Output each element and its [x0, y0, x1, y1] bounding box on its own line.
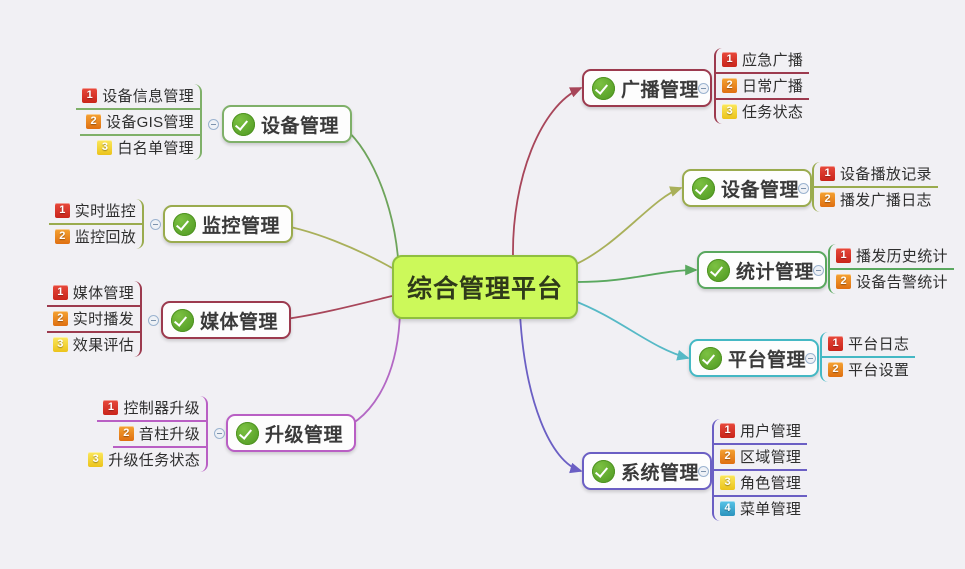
list-item[interactable]: 2 监控回放: [49, 225, 142, 249]
node-label: 监控管理: [202, 211, 280, 238]
collapse-minus-icon[interactable]: [148, 315, 159, 326]
subgroup-media-management: 1 媒体管理 2 实时播发 3 效果评估: [46, 281, 142, 357]
subgroup-system-management: 1 用户管理 2 区域管理 3 角色管理 4 菜单管理: [712, 419, 808, 521]
list-item-label: 实时播发: [73, 308, 134, 329]
list-item-label: 角色管理: [740, 472, 801, 493]
node-device-management-right[interactable]: 设备管理: [682, 169, 812, 207]
collapse-minus-icon[interactable]: [208, 119, 219, 130]
list-item[interactable]: 1 应急广播: [716, 48, 809, 74]
list-item-label: 用户管理: [740, 420, 801, 441]
node-platform-management[interactable]: 平台管理: [689, 339, 819, 377]
list-item[interactable]: 1 平台日志: [822, 332, 915, 358]
list-item[interactable]: 4 菜单管理: [714, 497, 807, 521]
node-statistics-management[interactable]: 统计管理: [697, 251, 827, 289]
node-label: 媒体管理: [200, 307, 278, 334]
list-item-label: 播发历史统计: [856, 245, 948, 266]
green-check-circle-icon: [236, 422, 259, 445]
mindmap-canvas: 综合管理平台 1 设备信息管理 2 设备GIS管理 3 白名单管理 设备管理 1…: [0, 0, 965, 569]
list-item[interactable]: 1 用户管理: [714, 419, 807, 445]
connector-media-management: [278, 296, 392, 320]
badge-number: 1: [820, 166, 835, 181]
node-label: 升级管理: [265, 420, 343, 447]
list-item-label: 控制器升级: [123, 397, 200, 418]
subgroup-platform-management: 1 平台日志 2 平台设置: [820, 332, 916, 382]
list-item[interactable]: 2 区域管理: [714, 445, 807, 471]
node-label: 统计管理: [736, 257, 814, 284]
list-item-label: 设备信息管理: [102, 85, 194, 106]
connector-device-management-right: [572, 188, 681, 266]
list-item[interactable]: 2 音柱升级: [113, 422, 206, 448]
list-item-label: 平台设置: [848, 359, 909, 380]
node-label: 系统管理: [621, 458, 699, 485]
list-item-label: 设备告警统计: [856, 271, 948, 292]
badge-number: 2: [836, 274, 851, 289]
list-item[interactable]: 1 设备播放记录: [814, 162, 938, 188]
badge-number: 3: [97, 140, 112, 155]
node-label: 设备管理: [721, 175, 799, 202]
green-check-circle-icon: [232, 113, 255, 136]
badge-number: 1: [82, 88, 97, 103]
list-item[interactable]: 1 播发历史统计: [830, 244, 954, 270]
badge-number: 1: [722, 52, 737, 67]
list-item[interactable]: 1 实时监控: [49, 199, 142, 225]
list-item[interactable]: 1 媒体管理: [47, 281, 140, 307]
collapse-minus-icon[interactable]: [798, 183, 809, 194]
badge-number: 3: [88, 452, 103, 467]
list-item-label: 应急广播: [742, 49, 803, 70]
collapse-minus-icon[interactable]: [805, 353, 816, 364]
node-media-management[interactable]: 媒体管理: [161, 301, 291, 339]
node-upgrade-management[interactable]: 升级管理: [226, 414, 356, 452]
green-check-circle-icon: [171, 309, 194, 332]
badge-number: 2: [55, 229, 70, 244]
list-item[interactable]: 2 实时播发: [47, 307, 140, 333]
list-item-label: 监控回放: [75, 226, 136, 247]
list-item[interactable]: 3 白名单管理: [91, 136, 200, 160]
connector-system-management: [520, 314, 581, 471]
list-item[interactable]: 3 升级任务状态: [82, 448, 206, 472]
node-system-management[interactable]: 系统管理: [582, 452, 712, 490]
list-item[interactable]: 3 任务状态: [716, 100, 809, 124]
subgroup-broadcast-management: 1 应急广播 2 日常广播 3 任务状态: [714, 48, 810, 124]
subgroup-device-management-left: 1 设备信息管理 2 设备GIS管理 3 白名单管理: [78, 84, 202, 160]
badge-number: 2: [86, 114, 101, 129]
list-item-label: 音柱升级: [139, 423, 200, 444]
green-check-circle-icon: [692, 177, 715, 200]
list-item-label: 任务状态: [742, 101, 803, 122]
list-item-label: 实时监控: [75, 200, 136, 221]
badge-number: 2: [53, 311, 68, 326]
connector-broadcast-management: [513, 88, 581, 256]
badge-number: 1: [828, 336, 843, 351]
badge-number: 2: [828, 362, 843, 377]
list-item[interactable]: 3 角色管理: [714, 471, 807, 497]
list-item-label: 区域管理: [740, 446, 801, 467]
connector-statistics-management: [578, 270, 696, 282]
badge-number: 3: [53, 337, 68, 352]
list-item-label: 日常广播: [742, 75, 803, 96]
subgroup-upgrade-management: 1 控制器升级 2 音柱升级 3 升级任务状态: [88, 396, 208, 472]
collapse-minus-icon[interactable]: [150, 219, 161, 230]
collapse-minus-icon[interactable]: [698, 83, 709, 94]
list-item-label: 升级任务状态: [108, 449, 200, 470]
list-item-label: 效果评估: [73, 334, 134, 355]
badge-number: 2: [720, 449, 735, 464]
badge-number: 2: [722, 78, 737, 93]
collapse-minus-icon[interactable]: [698, 466, 709, 477]
list-item[interactable]: 3 效果评估: [47, 333, 140, 357]
connector-device-management-left: [336, 124, 398, 258]
badge-number: 2: [820, 192, 835, 207]
list-item[interactable]: 2 播发广播日志: [814, 188, 938, 212]
connector-platform-management: [572, 300, 688, 358]
node-device-management-left[interactable]: 设备管理: [222, 105, 352, 143]
subgroup-statistics-management: 1 播发历史统计 2 设备告警统计: [828, 244, 952, 294]
list-item-label: 菜单管理: [740, 498, 801, 519]
list-item-label: 设备GIS管理: [106, 111, 194, 132]
node-monitor-management[interactable]: 监控管理: [163, 205, 293, 243]
collapse-minus-icon[interactable]: [813, 265, 824, 276]
list-item-label: 播发广播日志: [840, 189, 932, 210]
badge-number: 3: [722, 104, 737, 119]
center-node[interactable]: 综合管理平台: [392, 255, 578, 319]
subgroup-monitor-management: 1 实时监控 2 监控回放: [48, 199, 144, 249]
list-item-label: 媒体管理: [73, 282, 134, 303]
list-item-label: 白名单管理: [117, 137, 194, 158]
list-item[interactable]: 2 日常广播: [716, 74, 809, 100]
subgroup-device-management-right: 1 设备播放记录 2 播发广播日志: [812, 162, 936, 212]
node-broadcast-management[interactable]: 广播管理: [582, 69, 712, 107]
list-item-label: 平台日志: [848, 333, 909, 354]
list-item[interactable]: 1 设备信息管理: [76, 84, 200, 110]
center-node-label: 综合管理平台: [407, 269, 563, 305]
node-label: 广播管理: [621, 75, 699, 102]
list-item-label: 设备播放记录: [840, 163, 932, 184]
list-item[interactable]: 2 设备GIS管理: [80, 110, 200, 136]
node-label: 平台管理: [728, 345, 806, 372]
node-label: 设备管理: [261, 111, 339, 138]
badge-number: 1: [103, 400, 118, 415]
badge-number: 1: [55, 203, 70, 218]
green-check-circle-icon: [699, 347, 722, 370]
badge-number: 3: [720, 475, 735, 490]
badge-number: 1: [836, 248, 851, 263]
green-check-circle-icon: [592, 77, 615, 100]
green-check-circle-icon: [592, 460, 615, 483]
list-item[interactable]: 1 控制器升级: [97, 396, 206, 422]
list-item[interactable]: 2 平台设置: [822, 358, 915, 382]
badge-number: 4: [720, 501, 735, 516]
green-check-circle-icon: [173, 213, 196, 236]
green-check-circle-icon: [707, 259, 730, 282]
badge-number: 1: [720, 423, 735, 438]
list-item[interactable]: 2 设备告警统计: [830, 270, 954, 294]
badge-number: 2: [119, 426, 134, 441]
collapse-minus-icon[interactable]: [214, 428, 225, 439]
badge-number: 1: [53, 285, 68, 300]
